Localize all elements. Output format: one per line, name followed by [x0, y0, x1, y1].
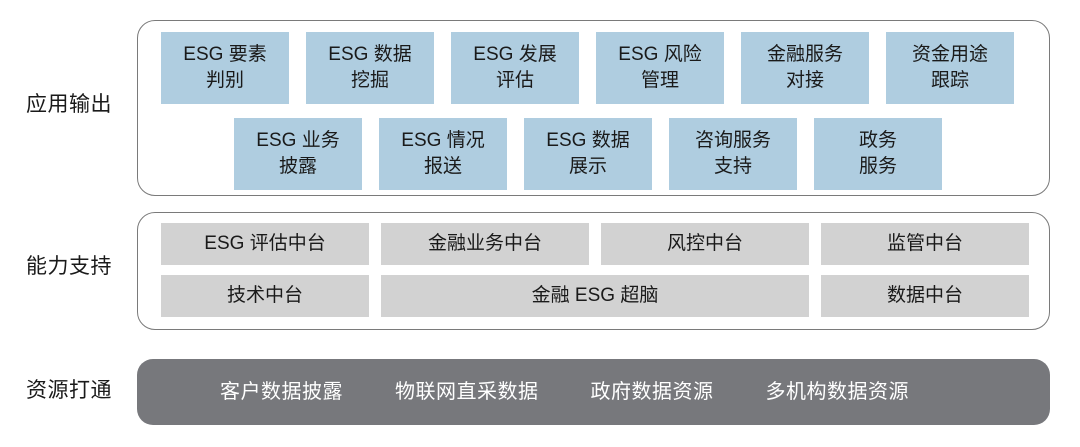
resource-item-multi-institution-data-resources[interactable]: 多机构数据资源 — [766, 379, 910, 405]
tile-line-2: 对接 — [786, 68, 824, 94]
application-output-panel: ESG 要素 判别 ESG 数据 挖掘 ESG 发展 评估 ESG 风险 管理 … — [137, 20, 1050, 196]
tile-line-1: ESG 数据 — [546, 128, 629, 154]
tile-esg-status-reporting[interactable]: ESG 情况 报送 — [379, 118, 507, 190]
tile-esg-data-mining[interactable]: ESG 数据 挖掘 — [306, 32, 434, 104]
resource-item-iot-direct-data[interactable]: 物联网直采数据 — [395, 379, 539, 405]
tile-financial-service-connection[interactable]: 金融服务 对接 — [741, 32, 869, 104]
tile-esg-development-assessment[interactable]: ESG 发展 评估 — [451, 32, 579, 104]
tile-line-2: 管理 — [641, 68, 679, 94]
tile-risk-control-platform[interactable]: 风控中台 — [601, 223, 809, 265]
tile-esg-element-identification[interactable]: ESG 要素 判别 — [161, 32, 289, 104]
tile-financial-esg-brain[interactable]: 金融 ESG 超脑 — [381, 275, 809, 317]
resource-integration-bar: 客户数据披露 物联网直采数据 政府数据资源 多机构数据资源 — [137, 359, 1050, 425]
tile-line-2: 报送 — [424, 154, 462, 180]
resource-item-customer-data-disclosure[interactable]: 客户数据披露 — [220, 379, 343, 405]
application-output-row-2: ESG 业务 披露 ESG 情况 报送 ESG 数据 展示 咨询服务 支持 政务… — [234, 118, 1049, 190]
tile-line-1: ESG 要素 — [183, 42, 266, 68]
application-output-row-1: ESG 要素 判别 ESG 数据 挖掘 ESG 发展 评估 ESG 风险 管理 … — [161, 32, 1049, 104]
tile-line-1: ESG 数据 — [328, 42, 411, 68]
tile-financial-business-platform[interactable]: 金融业务中台 — [381, 223, 589, 265]
tile-line-2: 披露 — [279, 154, 317, 180]
tile-line-1: ESG 业务 — [256, 128, 339, 154]
tile-line-2: 评估 — [496, 68, 534, 94]
tile-regulatory-platform[interactable]: 监管中台 — [821, 223, 1029, 265]
tile-line-2: 展示 — [569, 154, 607, 180]
tile-esg-risk-management[interactable]: ESG 风险 管理 — [596, 32, 724, 104]
tile-line-1: 金融服务 — [767, 42, 843, 68]
tile-line-1: ESG 情况 — [401, 128, 484, 154]
tile-line-1: 资金用途 — [912, 42, 988, 68]
tile-line-1: 咨询服务 — [695, 128, 771, 154]
tile-esg-business-disclosure[interactable]: ESG 业务 披露 — [234, 118, 362, 190]
tile-consulting-service-support[interactable]: 咨询服务 支持 — [669, 118, 797, 190]
tile-line-1: 政务 — [859, 128, 897, 154]
tile-line-2: 服务 — [859, 154, 897, 180]
tile-esg-assessment-platform[interactable]: ESG 评估中台 — [161, 223, 369, 265]
tile-line-1: ESG 发展 — [473, 42, 556, 68]
tile-data-platform[interactable]: 数据中台 — [821, 275, 1029, 317]
tile-line-1: ESG 风险 — [618, 42, 701, 68]
tile-line-2: 跟踪 — [931, 68, 969, 94]
resource-item-government-data-resources[interactable]: 政府数据资源 — [591, 379, 714, 405]
tile-esg-data-display[interactable]: ESG 数据 展示 — [524, 118, 652, 190]
esg-architecture-diagram: 应用输出 ESG 要素 判别 ESG 数据 挖掘 ESG 发展 评估 ESG 风… — [0, 0, 1080, 447]
row-label-resource-integration: 资源打通 — [26, 378, 132, 404]
row-label-capability-support: 能力支持 — [26, 254, 132, 280]
tile-line-2: 挖掘 — [351, 68, 389, 94]
tile-line-2: 支持 — [714, 154, 752, 180]
tile-government-affairs-service[interactable]: 政务 服务 — [814, 118, 942, 190]
capability-support-row-2: 技术中台 金融 ESG 超脑 数据中台 — [161, 275, 1049, 317]
capability-support-panel: ESG 评估中台 金融业务中台 风控中台 监管中台 技术中台 金融 ESG 超脑… — [137, 212, 1050, 330]
tile-line-2: 判别 — [206, 68, 244, 94]
row-label-application-output: 应用输出 — [26, 92, 132, 118]
tile-fund-usage-tracking[interactable]: 资金用途 跟踪 — [886, 32, 1014, 104]
tile-technology-platform[interactable]: 技术中台 — [161, 275, 369, 317]
capability-support-row-1: ESG 评估中台 金融业务中台 风控中台 监管中台 — [161, 223, 1049, 265]
